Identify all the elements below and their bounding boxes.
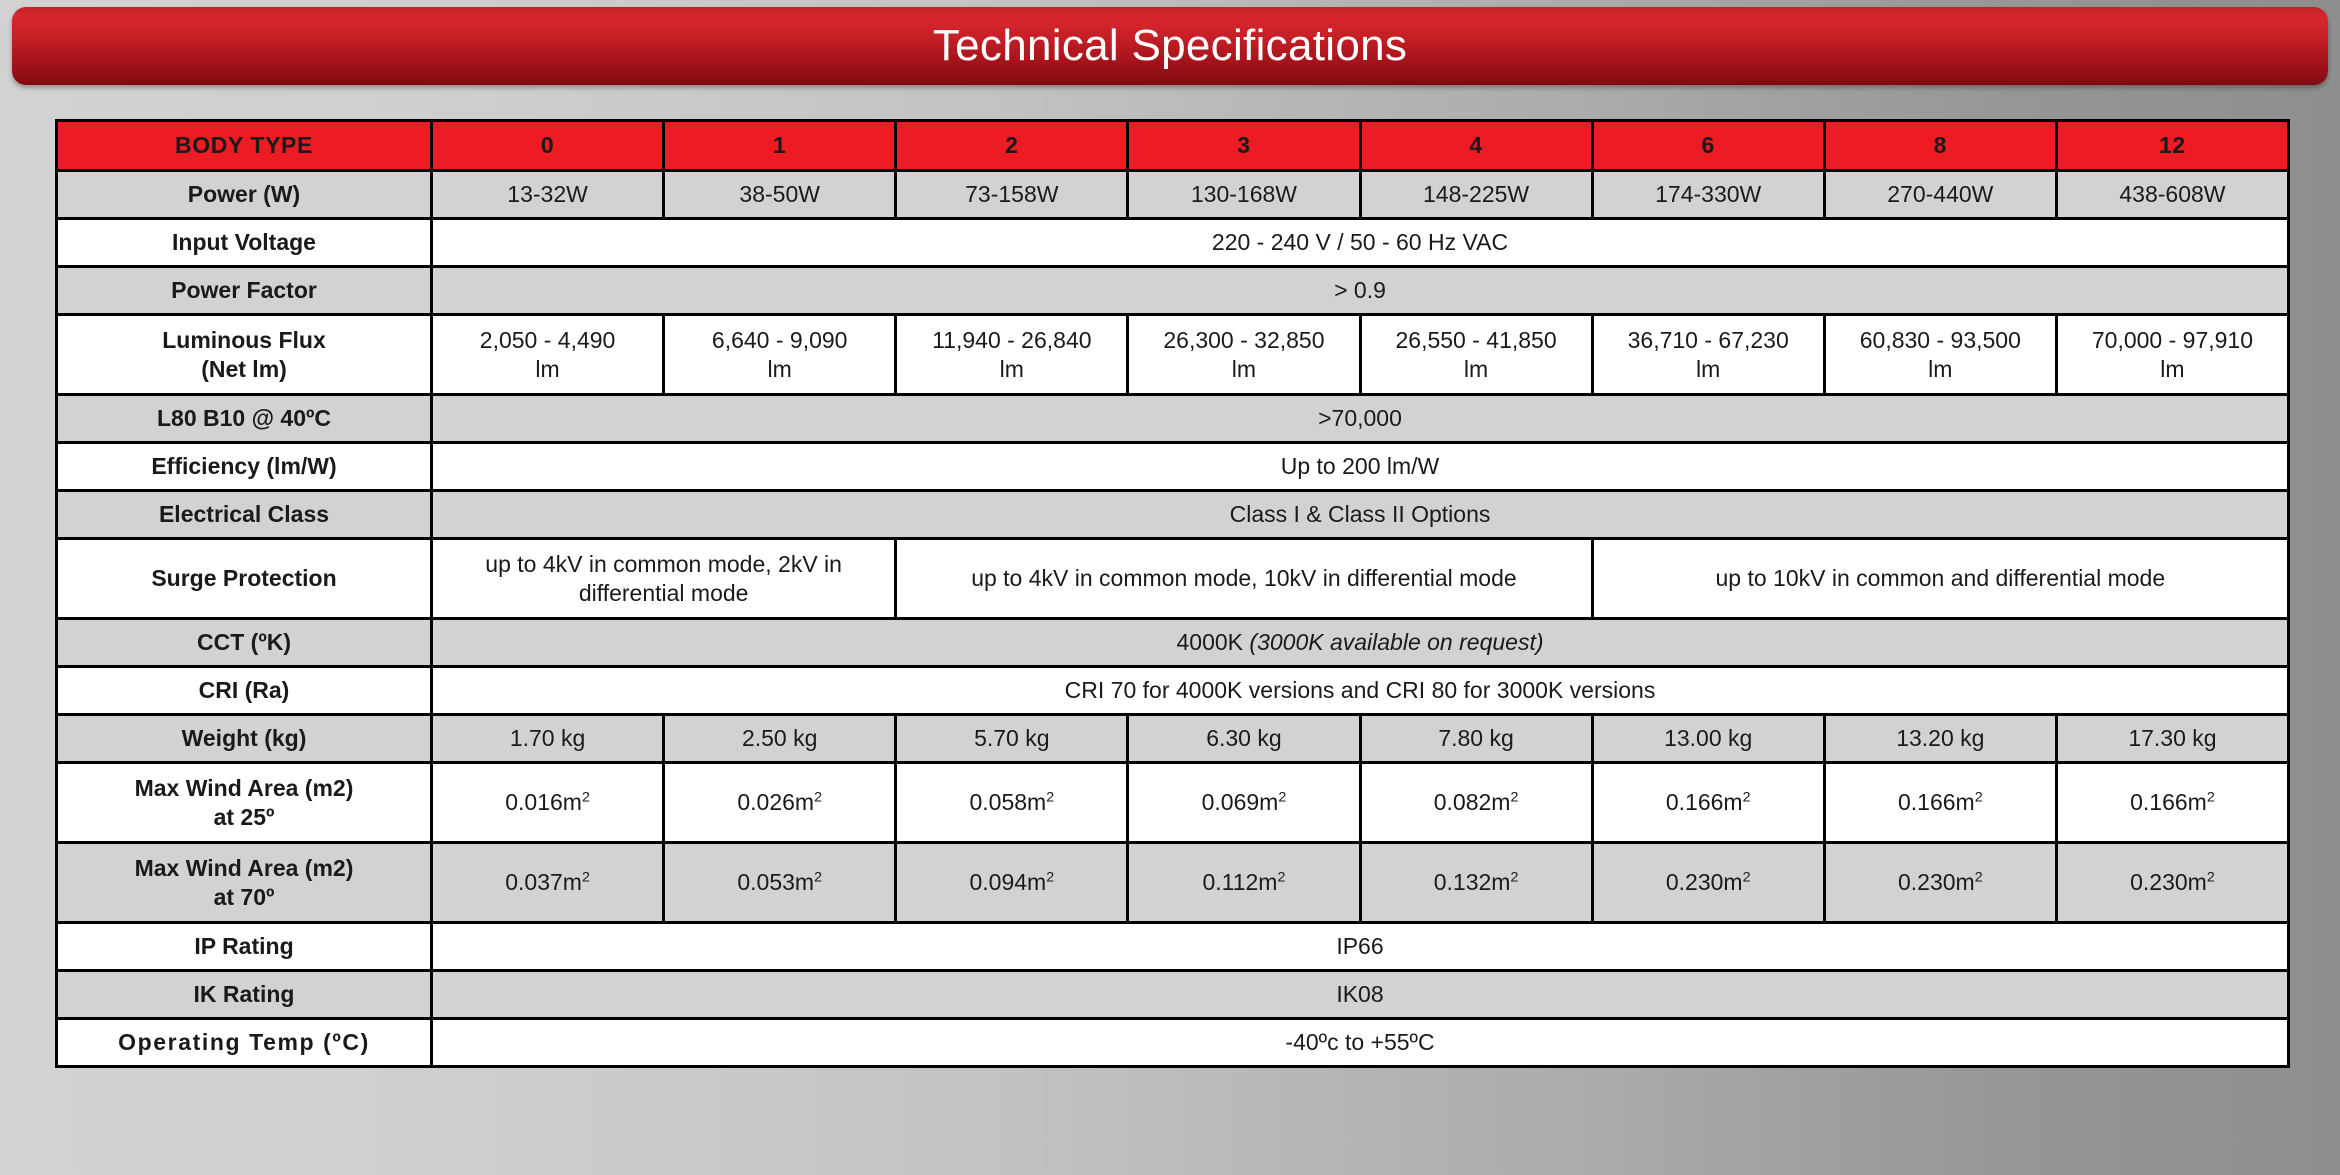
row-3-cell-2: 11,940 - 26,840lm	[896, 315, 1128, 395]
row-label-cell: CRI (Ra)	[57, 667, 432, 715]
table-row: Operating Temp (ºC)-40ºc to +55ºC	[57, 1019, 2289, 1067]
row-0-cell-2: 73-158W	[896, 171, 1128, 219]
row-label-cell: Operating Temp (ºC)	[57, 1019, 432, 1067]
row-5-cell-0: Up to 200 lm/W	[432, 443, 2289, 491]
row-11-cell-3: 0.069m2	[1128, 763, 1360, 843]
row-11-cell-6: 0.166m2	[1824, 763, 2056, 843]
row-12-cell-6: 0.230m2	[1824, 843, 2056, 923]
row-label-cell: Max Wind Area (m2)at 25º	[57, 763, 432, 843]
header-label-cell: BODY TYPE	[57, 121, 432, 171]
row-0-cell-6: 270-440W	[1824, 171, 2056, 219]
header-column-3: 3	[1128, 121, 1360, 171]
table-row: Weight (kg)1.70 kg2.50 kg5.70 kg6.30 kg7…	[57, 715, 2289, 763]
row-11-cell-4: 0.082m2	[1360, 763, 1592, 843]
header-column-6: 8	[1824, 121, 2056, 171]
row-label-cell: IK Rating	[57, 971, 432, 1019]
row-label-cell: Power (W)	[57, 171, 432, 219]
table-row: CCT (ºK)4000K (3000K available on reques…	[57, 619, 2289, 667]
header-column-1: 1	[664, 121, 896, 171]
row-12-cell-1: 0.053m2	[664, 843, 896, 923]
row-label-cell: Input Voltage	[57, 219, 432, 267]
table-header-row: BODY TYPE012346812	[57, 121, 2289, 171]
row-label-cell: Electrical Class	[57, 491, 432, 539]
table-row: L80 B10 @ 40ºC>70,000	[57, 395, 2289, 443]
row-label-cell: Luminous Flux(Net lm)	[57, 315, 432, 395]
row-label-cell: Surge Protection	[57, 539, 432, 619]
row-10-cell-1: 2.50 kg	[664, 715, 896, 763]
table-body: BODY TYPE012346812Power (W)13-32W38-50W7…	[57, 121, 2289, 1067]
row-10-cell-5: 13.00 kg	[1592, 715, 1824, 763]
row-label-cell: Max Wind Area (m2)at 70º	[57, 843, 432, 923]
row-3-cell-7: 70,000 - 97,910lm	[2056, 315, 2288, 395]
row-10-cell-3: 6.30 kg	[1128, 715, 1360, 763]
row-3-cell-1: 6,640 - 9,090lm	[664, 315, 896, 395]
table-row: IP RatingIP66	[57, 923, 2289, 971]
row-label-cell: Power Factor	[57, 267, 432, 315]
row-1-cell-0: 220 - 240 V / 50 - 60 Hz VAC	[432, 219, 2289, 267]
title-banner: Technical Specifications	[12, 7, 2328, 85]
page-title: Technical Specifications	[933, 24, 1407, 68]
row-3-cell-5: 36,710 - 67,230lm	[1592, 315, 1824, 395]
row-0-cell-0: 13-32W	[432, 171, 664, 219]
table-row: Electrical ClassClass I & Class II Optio…	[57, 491, 2289, 539]
table-row: Surge Protectionup to 4kV in common mode…	[57, 539, 2289, 619]
row-label-cell: L80 B10 @ 40ºC	[57, 395, 432, 443]
row-10-cell-4: 7.80 kg	[1360, 715, 1592, 763]
header-column-5: 6	[1592, 121, 1824, 171]
table-row: Power Factor> 0.9	[57, 267, 2289, 315]
table-row: Max Wind Area (m2)at 70º0.037m20.053m20.…	[57, 843, 2289, 923]
row-11-cell-2: 0.058m2	[896, 763, 1128, 843]
table-row: CRI (Ra)CRI 70 for 4000K versions and CR…	[57, 667, 2289, 715]
table-row: Efficiency (lm/W)Up to 200 lm/W	[57, 443, 2289, 491]
table-row: Max Wind Area (m2)at 25º0.016m20.026m20.…	[57, 763, 2289, 843]
row-10-cell-0: 1.70 kg	[432, 715, 664, 763]
row-3-cell-6: 60,830 - 93,500lm	[1824, 315, 2056, 395]
row-3-cell-4: 26,550 - 41,850lm	[1360, 315, 1592, 395]
row-12-cell-2: 0.094m2	[896, 843, 1128, 923]
header-column-7: 12	[2056, 121, 2288, 171]
row-4-cell-0: >70,000	[432, 395, 2289, 443]
row-10-cell-2: 5.70 kg	[896, 715, 1128, 763]
header-column-4: 4	[1360, 121, 1592, 171]
row-11-cell-1: 0.026m2	[664, 763, 896, 843]
row-8-cell-0: 4000K (3000K available on request)	[432, 619, 2289, 667]
row-3-cell-3: 26,300 - 32,850lm	[1128, 315, 1360, 395]
row-label-cell: IP Rating	[57, 923, 432, 971]
table-row: Luminous Flux(Net lm)2,050 - 4,490lm6,64…	[57, 315, 2289, 395]
row-15-cell-0: -40ºc to +55ºC	[432, 1019, 2289, 1067]
row-10-cell-6: 13.20 kg	[1824, 715, 2056, 763]
row-3-cell-0: 2,050 - 4,490lm	[432, 315, 664, 395]
row-12-cell-4: 0.132m2	[1360, 843, 1592, 923]
row-6-cell-0: Class I & Class II Options	[432, 491, 2289, 539]
header-column-2: 2	[896, 121, 1128, 171]
header-column-0: 0	[432, 121, 664, 171]
row-7-cell-2: up to 10kV in common and differential mo…	[1592, 539, 2288, 619]
row-13-cell-0: IP66	[432, 923, 2289, 971]
technical-specifications-table: BODY TYPE012346812Power (W)13-32W38-50W7…	[55, 119, 2290, 1068]
row-12-cell-0: 0.037m2	[432, 843, 664, 923]
row-11-cell-5: 0.166m2	[1592, 763, 1824, 843]
row-12-cell-3: 0.112m2	[1128, 843, 1360, 923]
table-row: IK RatingIK08	[57, 971, 2289, 1019]
table-row: Power (W)13-32W38-50W73-158W130-168W148-…	[57, 171, 2289, 219]
row-0-cell-3: 130-168W	[1128, 171, 1360, 219]
row-9-cell-0: CRI 70 for 4000K versions and CRI 80 for…	[432, 667, 2289, 715]
table-row: Input Voltage220 - 240 V / 50 - 60 Hz VA…	[57, 219, 2289, 267]
row-0-cell-5: 174-330W	[1592, 171, 1824, 219]
row-12-cell-7: 0.230m2	[2056, 843, 2288, 923]
row-7-cell-0: up to 4kV in common mode, 2kV in differe…	[432, 539, 896, 619]
row-12-cell-5: 0.230m2	[1592, 843, 1824, 923]
row-label-cell: CCT (ºK)	[57, 619, 432, 667]
row-10-cell-7: 17.30 kg	[2056, 715, 2288, 763]
row-0-cell-7: 438-608W	[2056, 171, 2288, 219]
row-11-cell-0: 0.016m2	[432, 763, 664, 843]
row-11-cell-7: 0.166m2	[2056, 763, 2288, 843]
row-label-cell: Weight (kg)	[57, 715, 432, 763]
row-7-cell-1: up to 4kV in common mode, 10kV in differ…	[896, 539, 1592, 619]
row-2-cell-0: > 0.9	[432, 267, 2289, 315]
row-0-cell-1: 38-50W	[664, 171, 896, 219]
row-label-cell: Efficiency (lm/W)	[57, 443, 432, 491]
row-14-cell-0: IK08	[432, 971, 2289, 1019]
row-0-cell-4: 148-225W	[1360, 171, 1592, 219]
